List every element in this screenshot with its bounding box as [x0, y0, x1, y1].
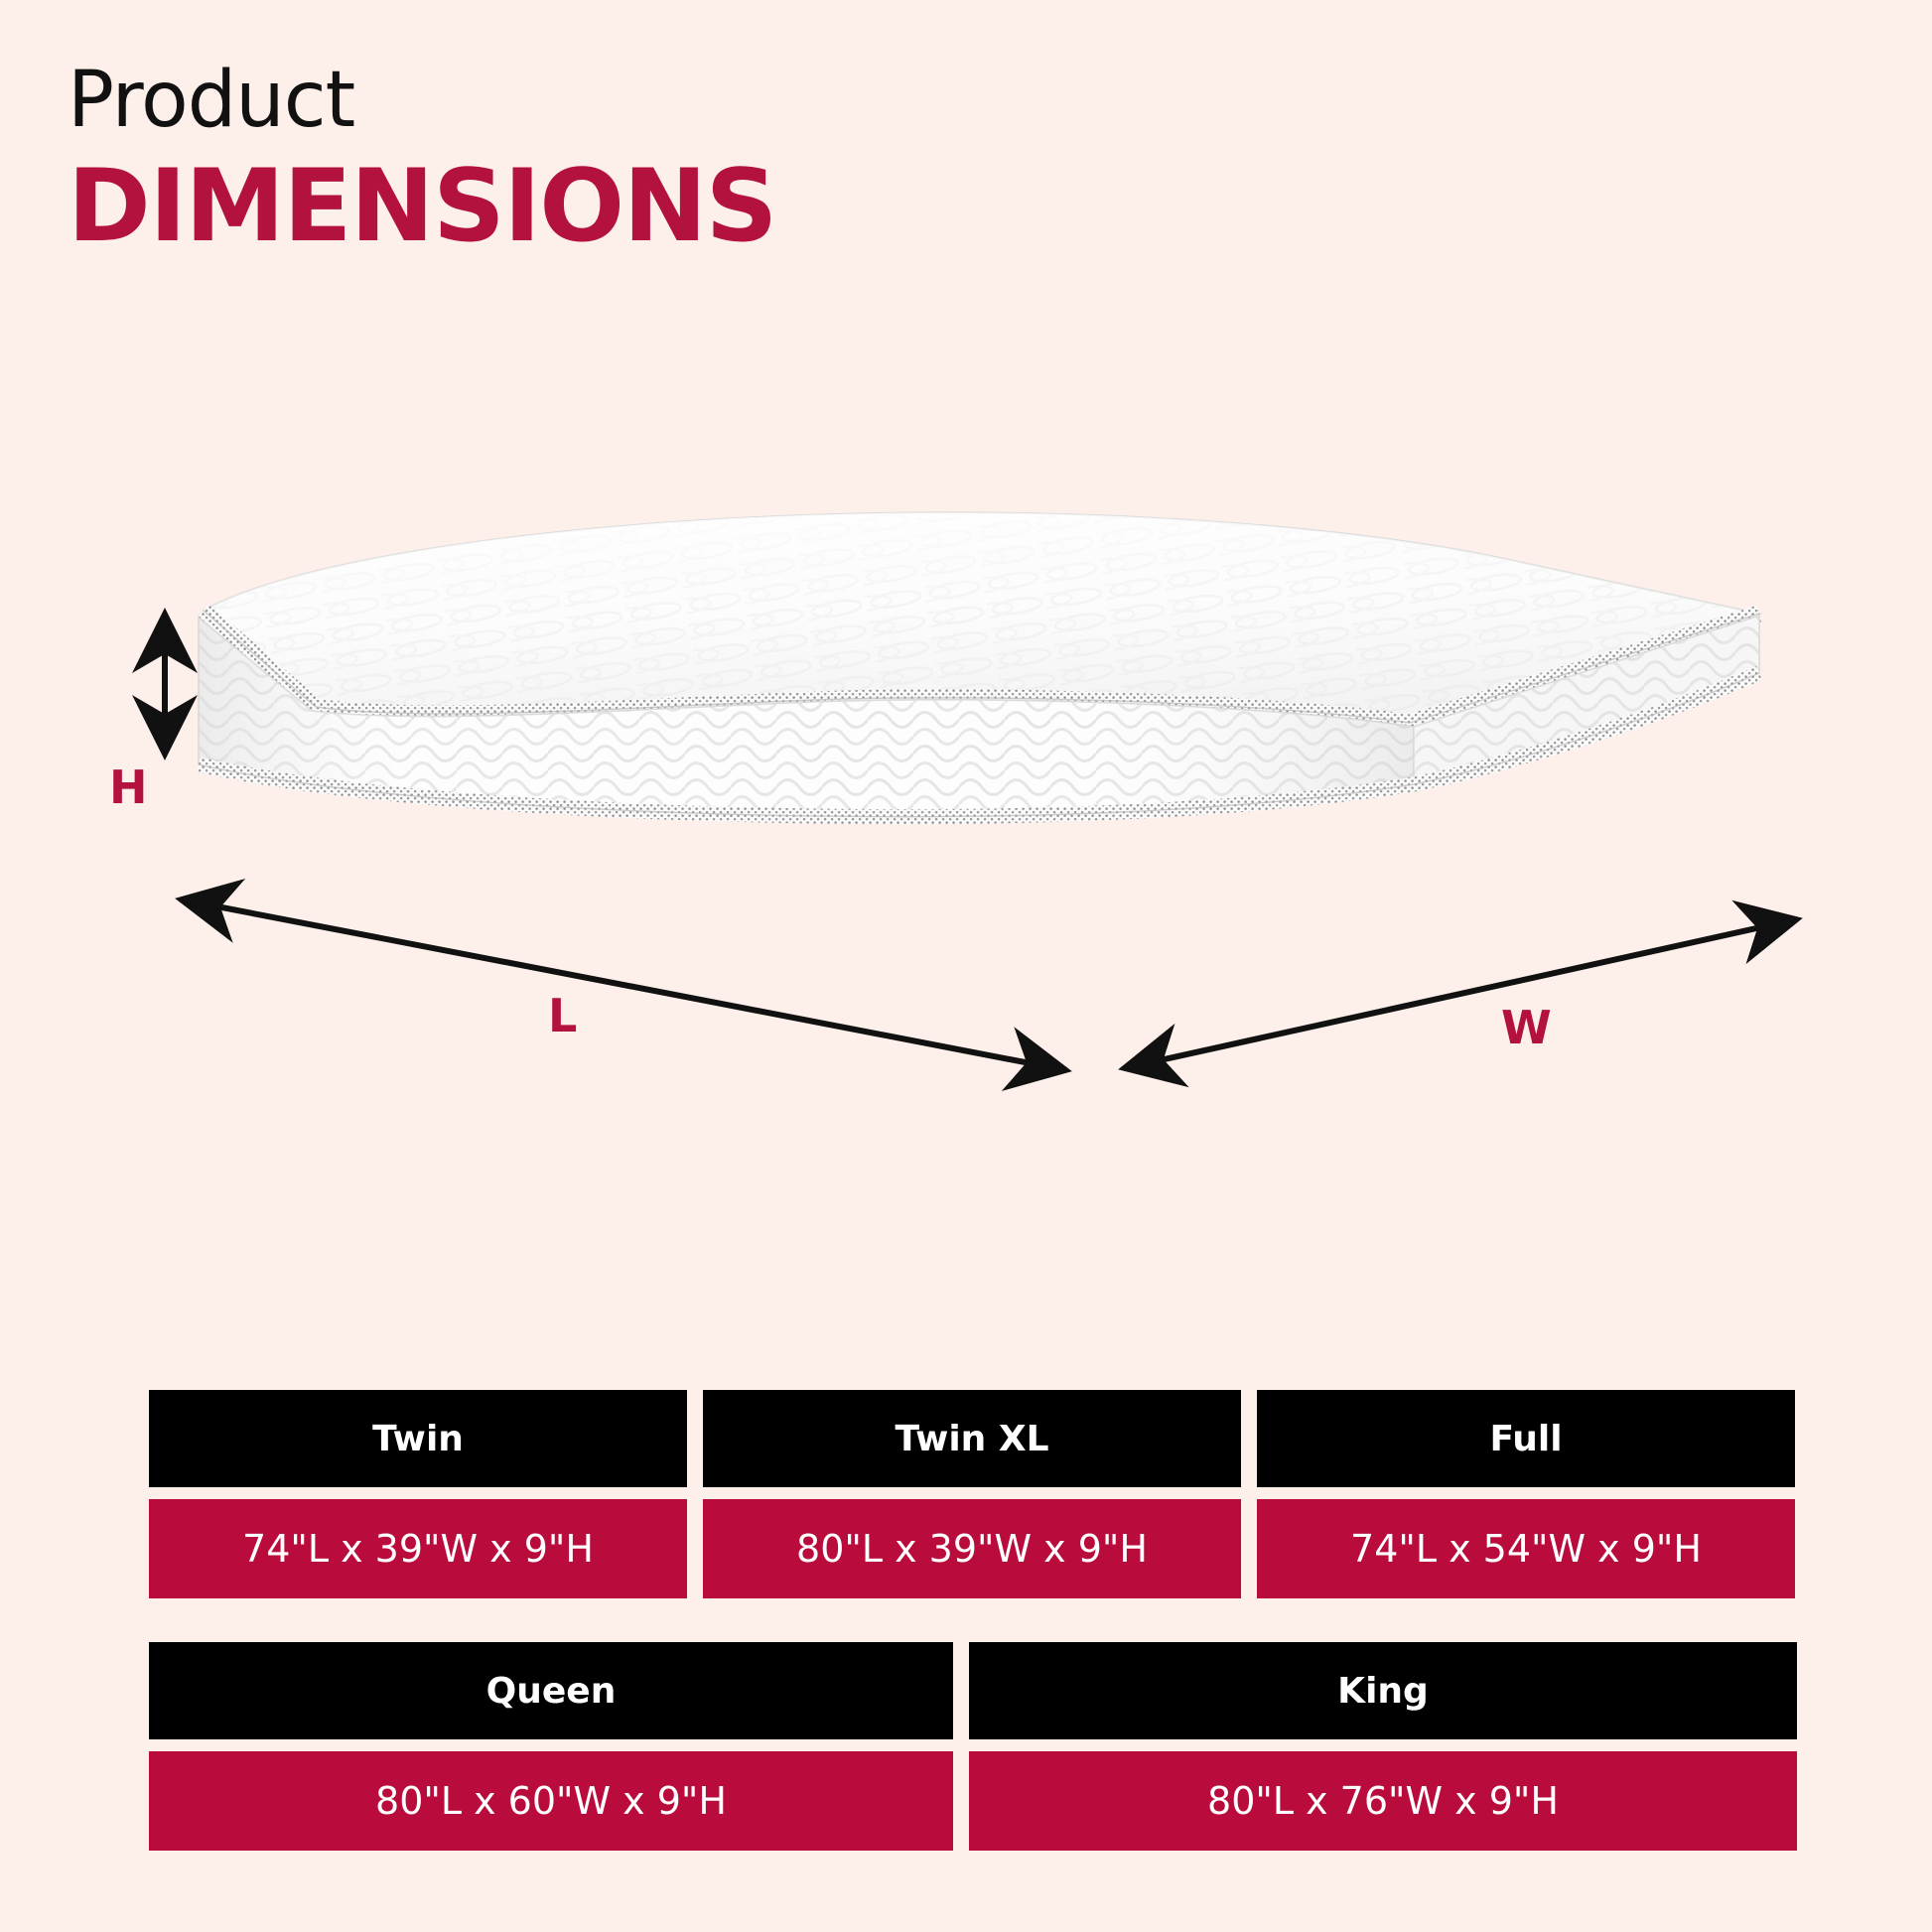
title-eyebrow: Product — [68, 62, 1160, 139]
size-dimensions-table: Twin 74"L x 39"W x 9"H Twin XL 80"L x 39… — [149, 1390, 1797, 1894]
size-value-full: 74"L x 54"W x 9"H — [1257, 1499, 1795, 1598]
size-name-twin: Twin — [149, 1390, 687, 1487]
size-name-full: Full — [1257, 1390, 1795, 1487]
length-arrow — [181, 899, 1066, 1070]
size-value-twin-xl: 80"L x 39"W x 9"H — [703, 1499, 1241, 1598]
size-name-twin-xl: Twin XL — [703, 1390, 1241, 1487]
length-label: L — [548, 993, 577, 1038]
page-title: Product DIMENSIONS — [68, 62, 1160, 258]
width-arrow — [1124, 919, 1797, 1068]
size-value-king: 80"L x 76"W x 9"H — [969, 1751, 1797, 1851]
size-cell-full: Full 74"L x 54"W x 9"H — [1257, 1390, 1795, 1598]
height-label: H — [109, 764, 148, 810]
size-value-twin: 74"L x 39"W x 9"H — [149, 1499, 687, 1598]
size-cell-queen: Queen 80"L x 60"W x 9"H — [149, 1642, 953, 1851]
mattress-illustration — [0, 467, 1932, 1162]
size-name-queen: Queen — [149, 1642, 953, 1739]
table-row: Twin 74"L x 39"W x 9"H Twin XL 80"L x 39… — [149, 1390, 1797, 1598]
size-cell-twin: Twin 74"L x 39"W x 9"H — [149, 1390, 687, 1598]
size-cell-king: King 80"L x 76"W x 9"H — [969, 1642, 1797, 1851]
title-headline: DIMENSIONS — [68, 153, 1160, 258]
size-value-queen: 80"L x 60"W x 9"H — [149, 1751, 953, 1851]
size-name-king: King — [969, 1642, 1797, 1739]
table-row: Queen 80"L x 60"W x 9"H King 80"L x 76"W… — [149, 1642, 1797, 1851]
width-label: W — [1501, 1005, 1552, 1050]
size-cell-twin-xl: Twin XL 80"L x 39"W x 9"H — [703, 1390, 1241, 1598]
